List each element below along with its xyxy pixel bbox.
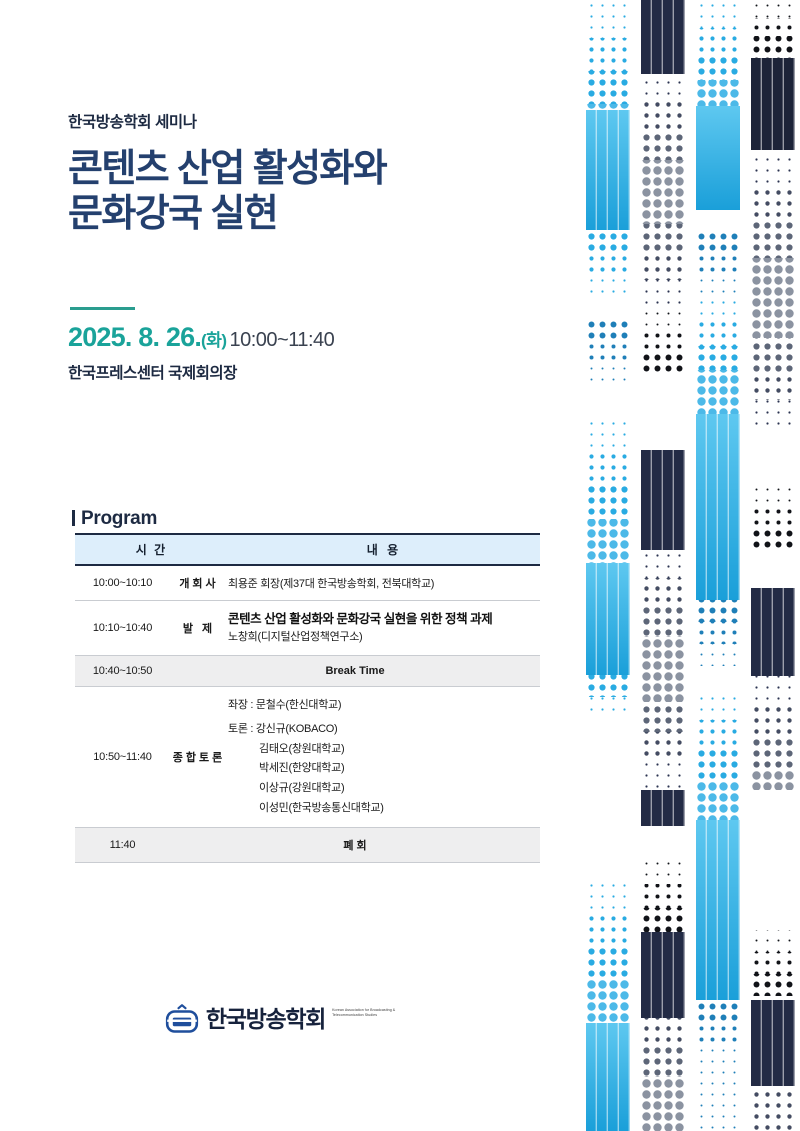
row-time: 10:50~11:40 bbox=[75, 686, 170, 827]
poster-header: 한국방송학회 세미나 콘텐츠 산업 활성화와 문화강국 실현 bbox=[68, 114, 386, 238]
program-heading-label: Program bbox=[81, 508, 157, 529]
seminar-eyebrow: 한국방송학회 세미나 bbox=[68, 114, 386, 133]
table-header-row: 시 간 내 용 bbox=[75, 534, 540, 565]
presentation-title: 콘텐츠 산업 활성화와 문화강국 실현을 위한 정책 과제 bbox=[228, 610, 540, 628]
event-dateline: 2025. 8. 26.(화)10:00~11:40 bbox=[68, 322, 334, 353]
row-content: Break Time bbox=[170, 655, 540, 686]
row-content: 좌장 : 문철수(한신대학교) 토론 : 강신규(KOBACO) 김태오(창원대… bbox=[228, 686, 540, 827]
event-date: 2025. 8. 26. bbox=[68, 322, 201, 352]
event-venue: 한국프레스센터 국제회의장 bbox=[68, 361, 237, 383]
row-content: 폐 회 bbox=[170, 828, 540, 863]
row-kind: 종합토론 bbox=[170, 686, 228, 827]
panel-discussant: 박세진(한양대학교) bbox=[228, 759, 540, 779]
organization-name-ko: 한국방송학회 bbox=[206, 1008, 325, 1031]
panel-discussant: 토론 : 강신규(KOBACO) bbox=[228, 720, 540, 740]
row-content: 콘텐츠 산업 활성화와 문화강국 실현을 위한 정책 과제 노창희(디지털산업정… bbox=[228, 601, 540, 656]
broadcast-logo-icon bbox=[165, 1004, 199, 1034]
page-title: 콘텐츠 산업 활성화와 문화강국 실현 bbox=[68, 147, 386, 238]
panel-list: 좌장 : 문철수(한신대학교) 토론 : 강신규(KOBACO) 김태오(창원대… bbox=[228, 696, 540, 818]
row-content-text: 최용준 회장(제37대 한국방송학회, 전북대학교) bbox=[228, 575, 540, 591]
poster-content: 한국방송학회 세미나 콘텐츠 산업 활성화와 문화강국 실현 2025. 8. … bbox=[0, 0, 575, 1131]
row-kind: 발 제 bbox=[170, 601, 228, 656]
column-header-time: 시 간 bbox=[75, 534, 228, 565]
presenter-name: 노창희(디지털산업정책연구소) bbox=[228, 629, 540, 646]
heading-bar-icon bbox=[72, 510, 75, 526]
table-row: 11:40 폐 회 bbox=[75, 828, 540, 863]
row-content: 최용준 회장(제37대 한국방송학회, 전북대학교) bbox=[228, 565, 540, 601]
row-time: 10:10~10:40 bbox=[75, 601, 170, 656]
accent-rule bbox=[70, 307, 135, 310]
panel-discussant: 이상규(강원대학교) bbox=[228, 779, 540, 799]
table-row: 10:00~10:10 개회사 최용준 회장(제37대 한국방송학회, 전북대학… bbox=[75, 565, 540, 601]
program-heading: Program bbox=[72, 508, 157, 530]
table-row: 10:40~10:50 Break Time bbox=[75, 655, 540, 686]
event-time-range: 10:00~11:40 bbox=[230, 329, 335, 351]
row-time: 11:40 bbox=[75, 828, 170, 863]
organization-logo: 한국방송학회 Korean Association for Broadcasti… bbox=[0, 1004, 575, 1034]
panel-discussant: 이성민(한국방송통신대학교) bbox=[228, 799, 540, 819]
page-title-line1: 콘텐츠 산업 활성화와 bbox=[68, 148, 386, 190]
row-time: 10:40~10:50 bbox=[75, 655, 170, 686]
table-row: 10:50~11:40 종합토론 좌장 : 문철수(한신대학교) 토론 : 강신… bbox=[75, 686, 540, 827]
event-day-of-week: (화) bbox=[201, 331, 226, 350]
column-header-content: 내 용 bbox=[228, 534, 540, 565]
page-title-line2: 문화강국 실현 bbox=[68, 192, 386, 238]
program-table: 시 간 내 용 10:00~10:10 개회사 최용준 회장(제37대 한국방송… bbox=[75, 533, 540, 863]
decorative-pattern bbox=[575, 0, 800, 1131]
table-row: 10:10~10:40 발 제 콘텐츠 산업 활성화와 문화강국 실현을 위한 … bbox=[75, 601, 540, 656]
row-kind: 개회사 bbox=[170, 565, 228, 601]
panel-discussant: 김태오(창원대학교) bbox=[228, 740, 540, 760]
organization-name-en: Korean Association for Broadcasting & Te… bbox=[332, 1008, 410, 1018]
panel-chair: 좌장 : 문철수(한신대학교) bbox=[228, 696, 540, 716]
row-time: 10:00~10:10 bbox=[75, 565, 170, 601]
